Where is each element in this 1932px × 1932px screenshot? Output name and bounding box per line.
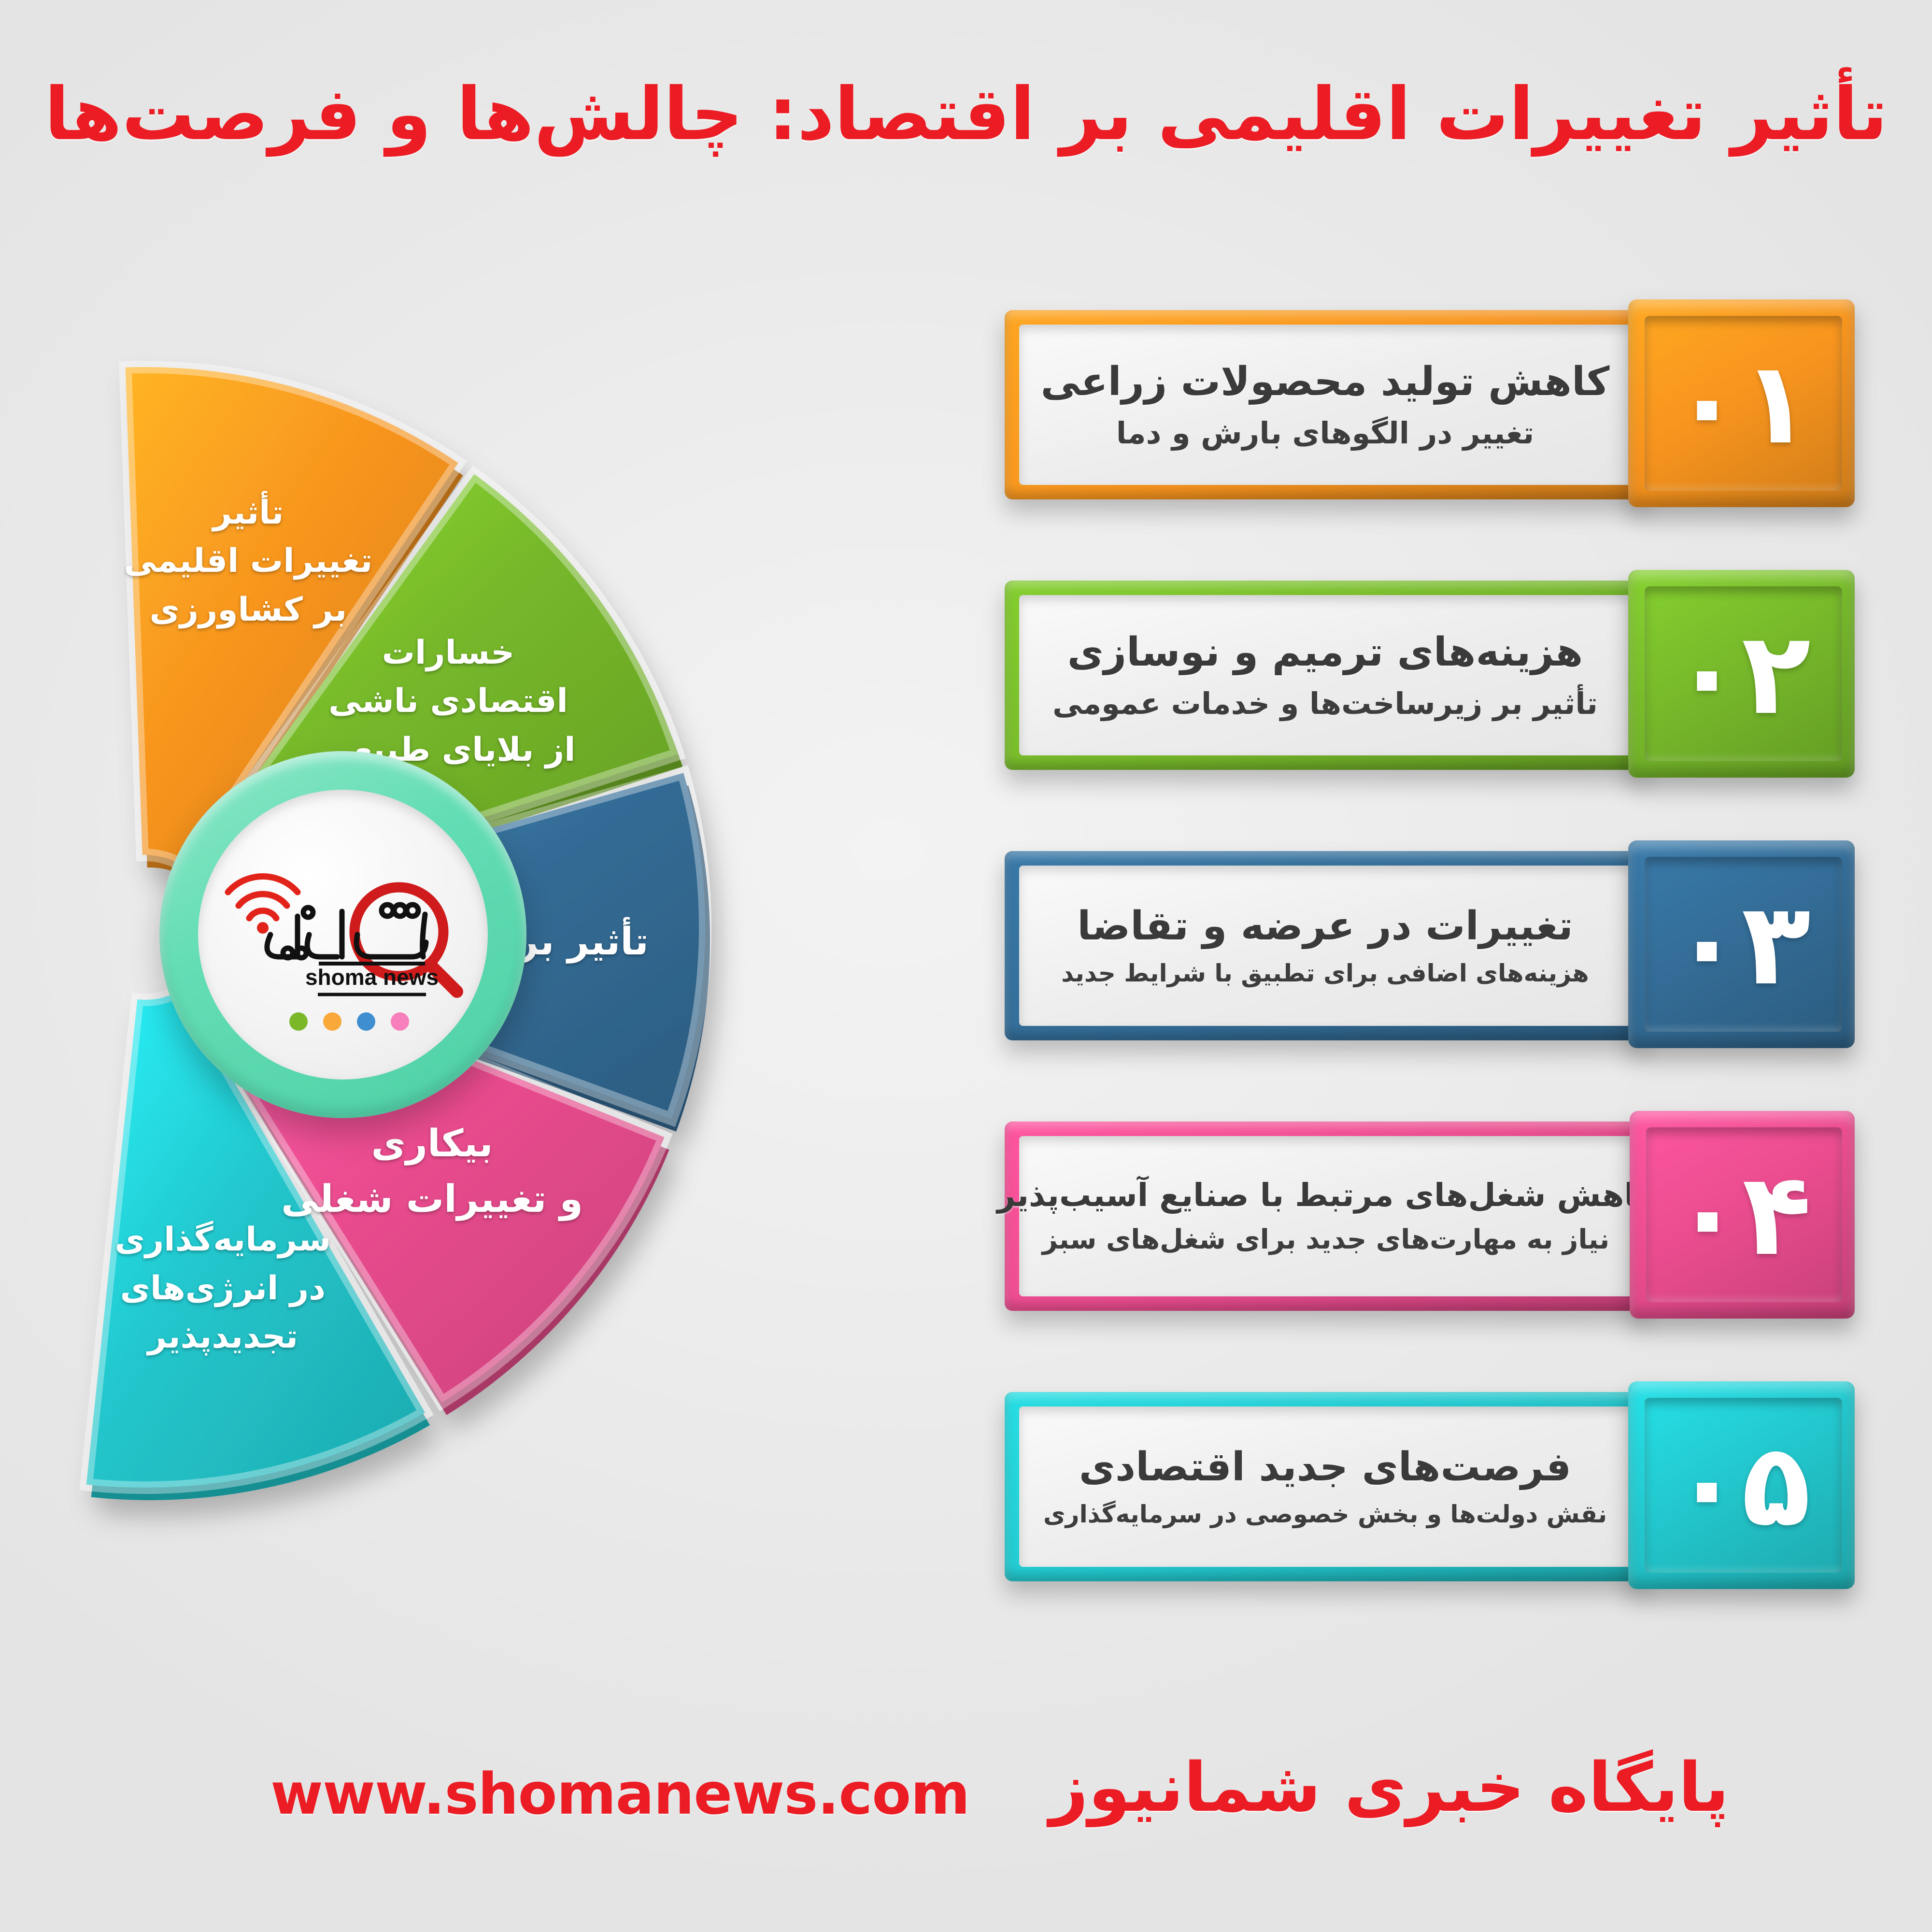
card-number-badge: ۰۲: [1628, 570, 1855, 778]
card-panel: تغییرات در عرضه و تقاضاهزینه‌های اضافی ب…: [1019, 866, 1631, 1026]
card-number-badge: ۰۴: [1630, 1111, 1855, 1319]
card-frame: هزینه‌های ترمیم و نوسازیتأثیر بر زیرساخت…: [1005, 581, 1646, 770]
wifi-icon: [228, 876, 298, 918]
card-frame: فرصت‌های جدید اقتصادینقش دولت‌ها و بخش خ…: [1005, 1392, 1646, 1581]
cards-list: ۰۱کاهش تولید محصولات زراعیتغییر در الگوه…: [1005, 299, 1869, 1666]
card-number-text: ۰۲: [1672, 617, 1811, 731]
card-number-text: ۰۳: [1672, 888, 1811, 1001]
footer-brand-name: پایگاه خبری شمانیوز: [1050, 1748, 1729, 1827]
card-item[interactable]: ۰۴کاهش شغل‌های مرتبط با صنایع آسیب‌پذیرن…: [1005, 1111, 1855, 1319]
infographic-canvas: تأثیر تغییرات اقلیمی بر اقتصاد: چالش‌ها …: [0, 0, 1932, 1932]
card-item[interactable]: ۰۱کاهش تولید محصولات زراعیتغییر در الگوه…: [1005, 299, 1855, 507]
card-subtitle: نقش دولت‌ها و بخش خصوصی در سرمایه‌گذاری: [1043, 1501, 1607, 1529]
card-frame: تغییرات در عرضه و تقاضاهزینه‌های اضافی ب…: [1005, 851, 1646, 1040]
brand-wordmark-fa: [267, 905, 426, 958]
card-subtitle: هزینه‌های اضافی برای تطبیق با شرایط جدید: [1061, 960, 1589, 988]
card-title: کاهش تولید محصولات زراعی: [1041, 359, 1610, 405]
card-panel: کاهش شغل‌های مرتبط با صنایع آسیب‌پذیرنیا…: [1019, 1136, 1633, 1296]
footer-website-url[interactable]: www.shomanews.com: [270, 1761, 969, 1827]
card-number-badge: ۰۱: [1628, 299, 1855, 507]
card-frame: کاهش شغل‌های مرتبط با صنایع آسیب‌پذیرنیا…: [1005, 1122, 1647, 1311]
card-panel: کاهش تولید محصولات زراعیتغییر در الگوهای…: [1019, 325, 1631, 485]
page-title: تأثیر تغییرات اقلیمی بر اقتصاد: چالش‌ها …: [0, 72, 1932, 156]
card-title: فرصت‌های جدید اقتصادی: [1079, 1445, 1571, 1490]
card-number-badge: ۰۳: [1628, 840, 1855, 1048]
card-item[interactable]: ۰۵فرصت‌های جدید اقتصادینقش دولت‌ها و بخش…: [1005, 1381, 1855, 1589]
card-subtitle: تغییر در الگوهای بارش و دما: [1116, 416, 1534, 450]
shoma-news-logo-icon: shoma news: [198, 790, 488, 1080]
card-panel: فرصت‌های جدید اقتصادینقش دولت‌ها و بخش خ…: [1019, 1406, 1631, 1567]
card-frame: کاهش تولید محصولات زراعیتغییر در الگوهای…: [1005, 310, 1646, 499]
logo-inner-disc: shoma news: [198, 790, 488, 1080]
card-title: هزینه‌های ترمیم و نوسازی: [1067, 630, 1583, 675]
card-number-text: ۰۵: [1672, 1429, 1811, 1542]
card-title: تغییرات در عرضه و تقاضا: [1077, 904, 1573, 949]
card-number-badge: ۰۵: [1628, 1381, 1855, 1589]
card-number-text: ۰۴: [1673, 1158, 1812, 1272]
card-subtitle: نیاز به مهارت‌های جدید برای شغل‌های سبز: [1042, 1224, 1610, 1255]
logo-badge: shoma news: [159, 751, 526, 1118]
card-number-text: ۰۱: [1672, 347, 1811, 460]
card-title: کاهش شغل‌های مرتبط با صنایع آسیب‌پذیر: [997, 1177, 1655, 1214]
brand-wordmark-en: shoma news: [305, 965, 439, 990]
card-item[interactable]: ۰۳تغییرات در عرضه و تقاضاهزینه‌های اضافی…: [1005, 840, 1855, 1048]
card-item[interactable]: ۰۲هزینه‌های ترمیم و نوسازیتأثیر بر زیرسا…: [1005, 570, 1855, 778]
card-subtitle: تأثیر بر زیرساخت‌ها و خدمات عمومی: [1052, 686, 1598, 721]
logo-dots: [289, 1012, 409, 1031]
card-panel: هزینه‌های ترمیم و نوسازیتأثیر بر زیرساخت…: [1019, 595, 1631, 755]
